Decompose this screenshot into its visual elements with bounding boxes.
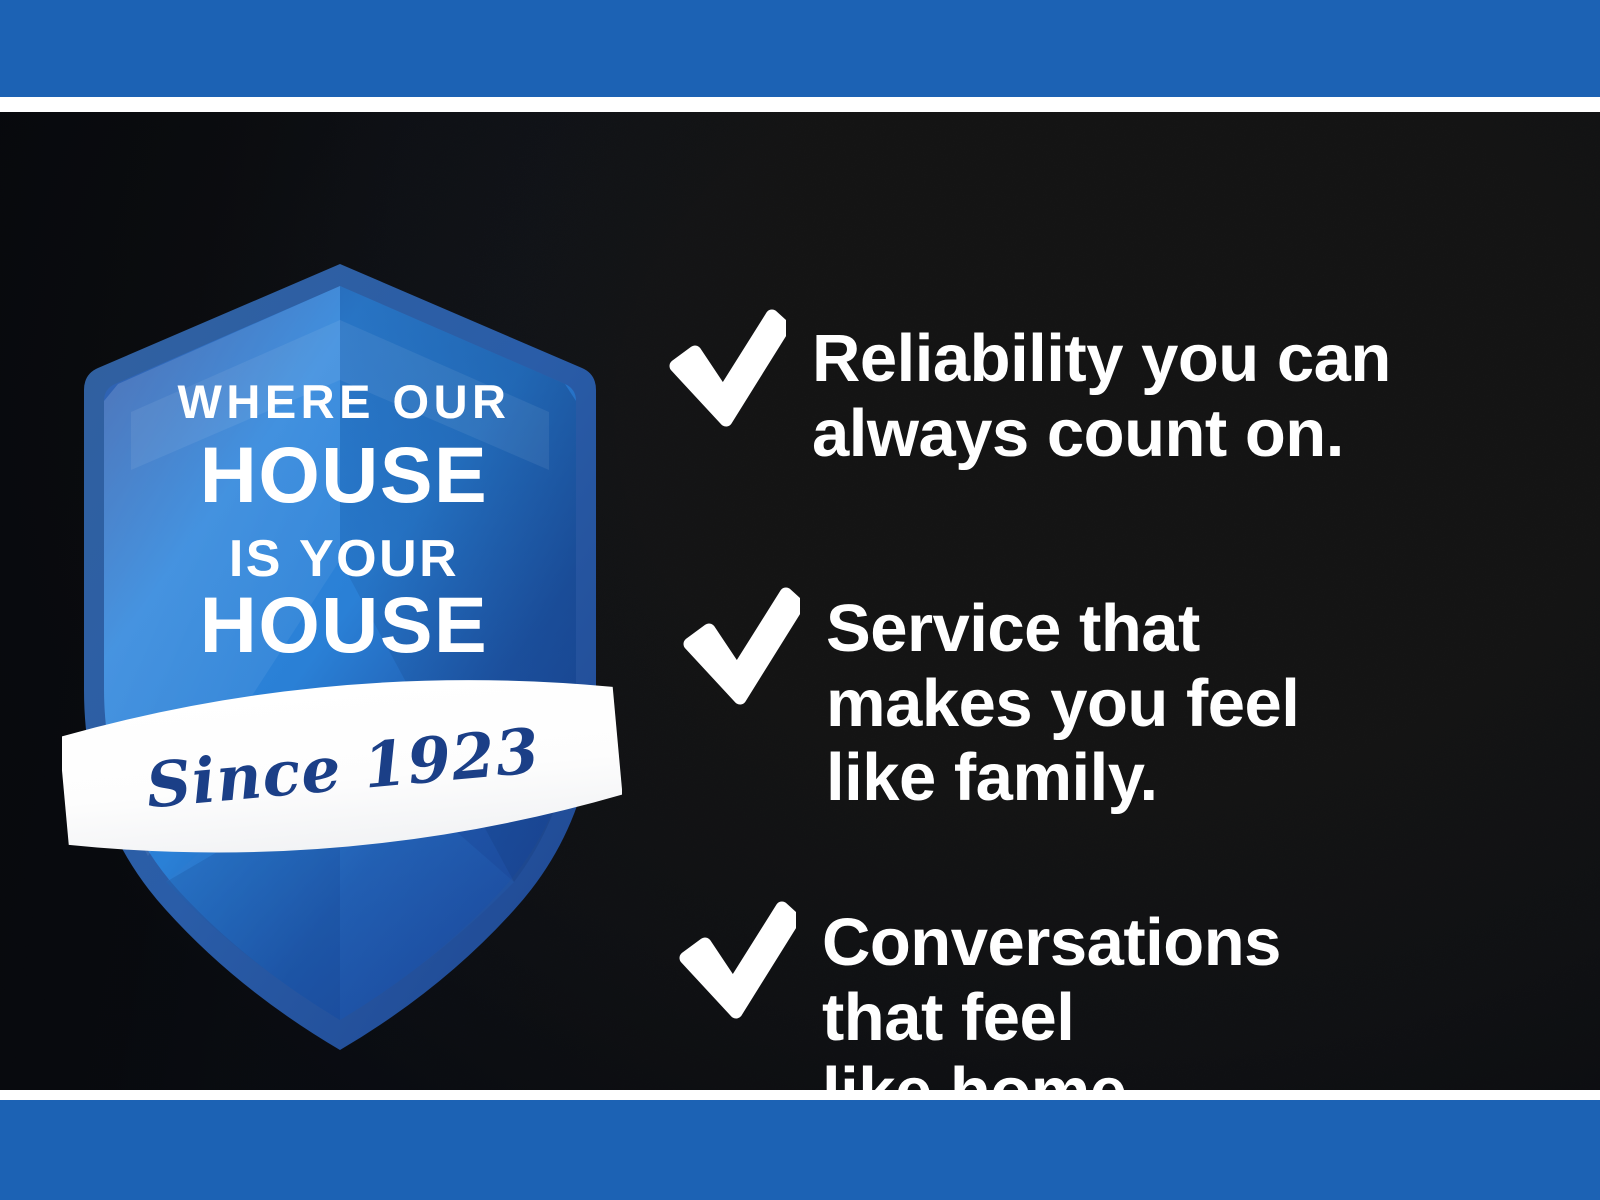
bottom-brand-bar — [0, 1100, 1600, 1200]
list-item: Service that makes you feel like family. — [682, 586, 1299, 816]
list-item-text: Reliability you can always count on. — [812, 308, 1391, 471]
main-panel: WHERE OUR HOUSE IS YOUR HOUSE Since 1923 — [0, 112, 1600, 1090]
promo-graphic: WHERE OUR HOUSE IS YOUR HOUSE Since 1923 — [0, 0, 1600, 1200]
badge-line-1: WHERE OUR — [178, 375, 511, 428]
top-brand-bar — [0, 0, 1600, 97]
benefits-list: Reliability you can always count on. Ser… — [668, 308, 1528, 1090]
list-item-text: Conversations that feel like home. — [822, 900, 1281, 1090]
list-item: Reliability you can always count on. — [668, 308, 1391, 471]
badge-line-2: HOUSE — [200, 430, 488, 519]
list-item-text: Service that makes you feel like family. — [826, 586, 1299, 816]
list-item: Conversations that feel like home. — [678, 900, 1281, 1090]
check-icon — [678, 900, 796, 1020]
shield-badge: WHERE OUR HOUSE IS YOUR HOUSE Since 1923 — [62, 260, 622, 1060]
check-icon — [682, 586, 800, 706]
check-icon — [668, 308, 786, 428]
badge-line-4: HOUSE — [200, 580, 488, 669]
